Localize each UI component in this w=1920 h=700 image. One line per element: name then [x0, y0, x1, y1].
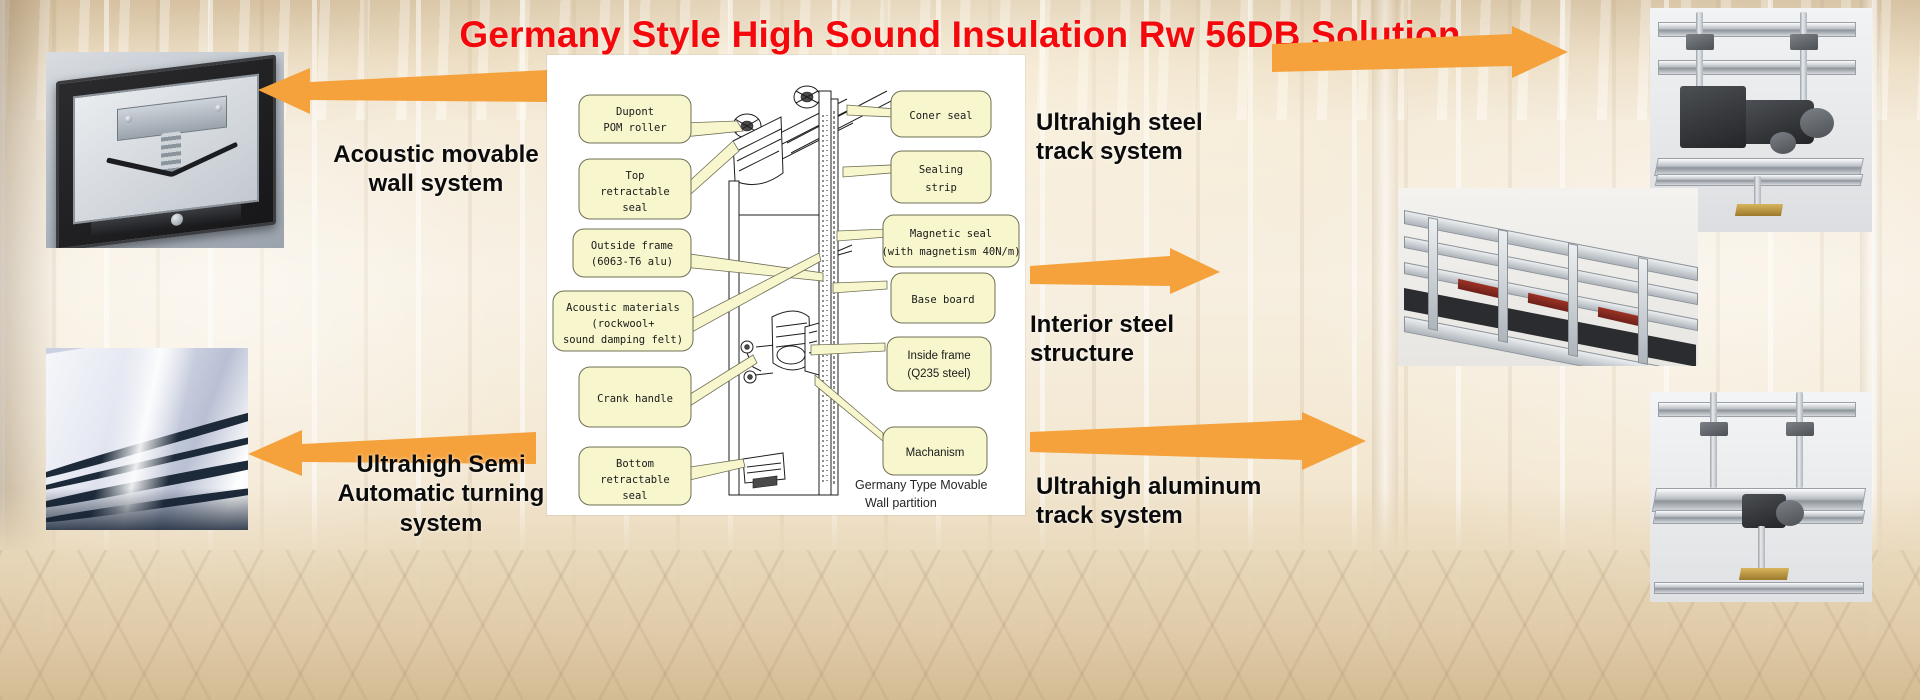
roller-wheel [1800, 108, 1834, 138]
threaded-rod [1796, 392, 1803, 488]
callout-line: Machanism [906, 447, 965, 459]
callout-base-board: Base board [891, 273, 995, 323]
panel-left-edge [729, 181, 739, 495]
caption-acoustic-movable-wall: Acoustic movable wall system [316, 140, 556, 199]
caption-line: structure [1030, 339, 1280, 368]
callout-line: retractable [600, 186, 670, 198]
caption-line: Interior steel [1030, 310, 1280, 339]
bottom-seal-detail [743, 453, 785, 488]
callout-line: Inside frame [907, 350, 970, 362]
brass-plate [1735, 204, 1783, 216]
caption-interior-steel-structure: Interior steel structure [1030, 310, 1280, 369]
germany-movable-wall-diagram-card: Dupont POM roller Top retractable seal O… [547, 55, 1025, 515]
callout-crank-handle: Crank handle [579, 367, 691, 427]
callout-line: sound damping felt) [563, 334, 683, 346]
panel-right-edge [819, 91, 831, 495]
callout-bottom-retractable-seal: Bottom retractable seal [579, 447, 691, 505]
callout-line: (rockwool+ [591, 318, 654, 330]
truss-strut [1568, 243, 1578, 357]
ultrahigh-aluminum-track-photo [1650, 392, 1872, 602]
acoustic-movable-wall-photo [46, 52, 284, 248]
interior-steel-structure-photo [1398, 188, 1698, 366]
caption-line: track system [1036, 137, 1316, 166]
callout-line: (6063-T6 alu) [591, 256, 673, 268]
truss-strut [1498, 229, 1508, 343]
threaded-rod [1800, 12, 1807, 104]
callout-line: (with magnetism 40N/m) [881, 246, 1020, 258]
roller-wheel [1770, 132, 1796, 154]
alu-rail-top [1658, 402, 1856, 417]
floor-guide [1654, 582, 1864, 594]
callout-line: (Q235 steel) [907, 368, 970, 380]
anchor-rod [1758, 526, 1765, 570]
bracket-body [1680, 86, 1746, 148]
truss-strut [1638, 257, 1648, 365]
callout-line: Crank handle [597, 393, 673, 405]
rod-nut [1686, 34, 1714, 50]
rod-nut [1700, 422, 1728, 436]
caption-steel-track-system: Ultrahigh steel track system [1036, 108, 1316, 167]
callout-line: seal [622, 490, 647, 502]
panel-inner-face [73, 74, 259, 225]
callout-line: Sealing [919, 164, 963, 176]
panel-outer-frame [56, 54, 276, 248]
callout-line: Coner seal [909, 110, 972, 122]
callout-dupont-pom-roller: Dupont POM roller [579, 95, 691, 143]
diagram-caption-line1: Germany Type Movable [855, 478, 988, 492]
arrow-right-bottom [1030, 412, 1366, 474]
caption-line: Ultrahigh Semi [316, 450, 566, 479]
callout-line: Top [626, 170, 645, 182]
callout-line: Outside frame [591, 240, 673, 252]
callout-line: retractable [600, 474, 670, 486]
infographic-stage: Germany Style High Sound Insulation Rw 5… [0, 0, 1920, 700]
caption-line: Acoustic movable [316, 140, 556, 169]
callout-line: Base board [911, 294, 974, 306]
steel-rail-second [1658, 60, 1856, 75]
caption-aluminum-track-system: Ultrahigh aluminum track system [1036, 472, 1336, 531]
semi-automatic-turning-system-photo [46, 348, 248, 530]
callout-line: Dupont [616, 106, 654, 118]
callout-magnetic-seal: Magnetic seal (with magnetism 40N/m) [881, 215, 1020, 267]
callout-coner-seal: Coner seal [891, 91, 991, 137]
movable-wall-section-drawing: Dupont POM roller Top retractable seal O… [547, 55, 1025, 515]
truss-strut [1428, 217, 1438, 331]
callout-line: Acoustic materials [566, 302, 680, 314]
caption-line: track system [1036, 501, 1336, 530]
callout-sealing-strip: Sealing strip [891, 151, 991, 203]
roller-wheel [1776, 500, 1804, 526]
rod-nut [1790, 34, 1818, 50]
diagram-caption-line2: Wall partition [865, 496, 937, 510]
caption-line: Ultrahigh aluminum [1036, 472, 1336, 501]
callout-inside-frame: Inside frame (Q235 steel) [887, 337, 991, 391]
arrow-right-top [1272, 26, 1568, 84]
callout-line: Bottom [616, 458, 654, 470]
threaded-rod [1710, 392, 1717, 488]
panel-bottom-bar [91, 204, 241, 238]
arrow-left-top [258, 62, 548, 120]
caption-line: Automatic turning [316, 479, 566, 508]
callout-leaders [677, 105, 895, 483]
callout-line: seal [622, 202, 647, 214]
turning-shadow [46, 488, 248, 530]
roller-upper [794, 86, 820, 108]
caption-turning-system: Ultrahigh Semi Automatic turning system [316, 450, 566, 538]
callout-line: Magnetic seal [910, 228, 992, 240]
caption-line: system [316, 509, 566, 538]
caption-line: Ultrahigh steel [1036, 108, 1316, 137]
caption-line: wall system [316, 169, 556, 198]
brass-plate [1739, 568, 1789, 580]
callout-machanism: Machanism [883, 427, 987, 475]
callout-top-retractable-seal: Top retractable seal [579, 159, 691, 219]
mechanism-detail [772, 311, 819, 375]
callout-acoustic-materials: Acoustic materials (rockwool+ sound damp… [553, 291, 693, 351]
arrow-right-mid [1030, 248, 1220, 298]
rod-nut [1786, 422, 1814, 436]
page-title: Germany Style High Sound Insulation Rw 5… [0, 14, 1920, 56]
callout-line: POM roller [603, 122, 666, 134]
callout-outside-frame: Outside frame (6063-T6 alu) [573, 229, 691, 277]
callout-line: strip [925, 182, 957, 194]
